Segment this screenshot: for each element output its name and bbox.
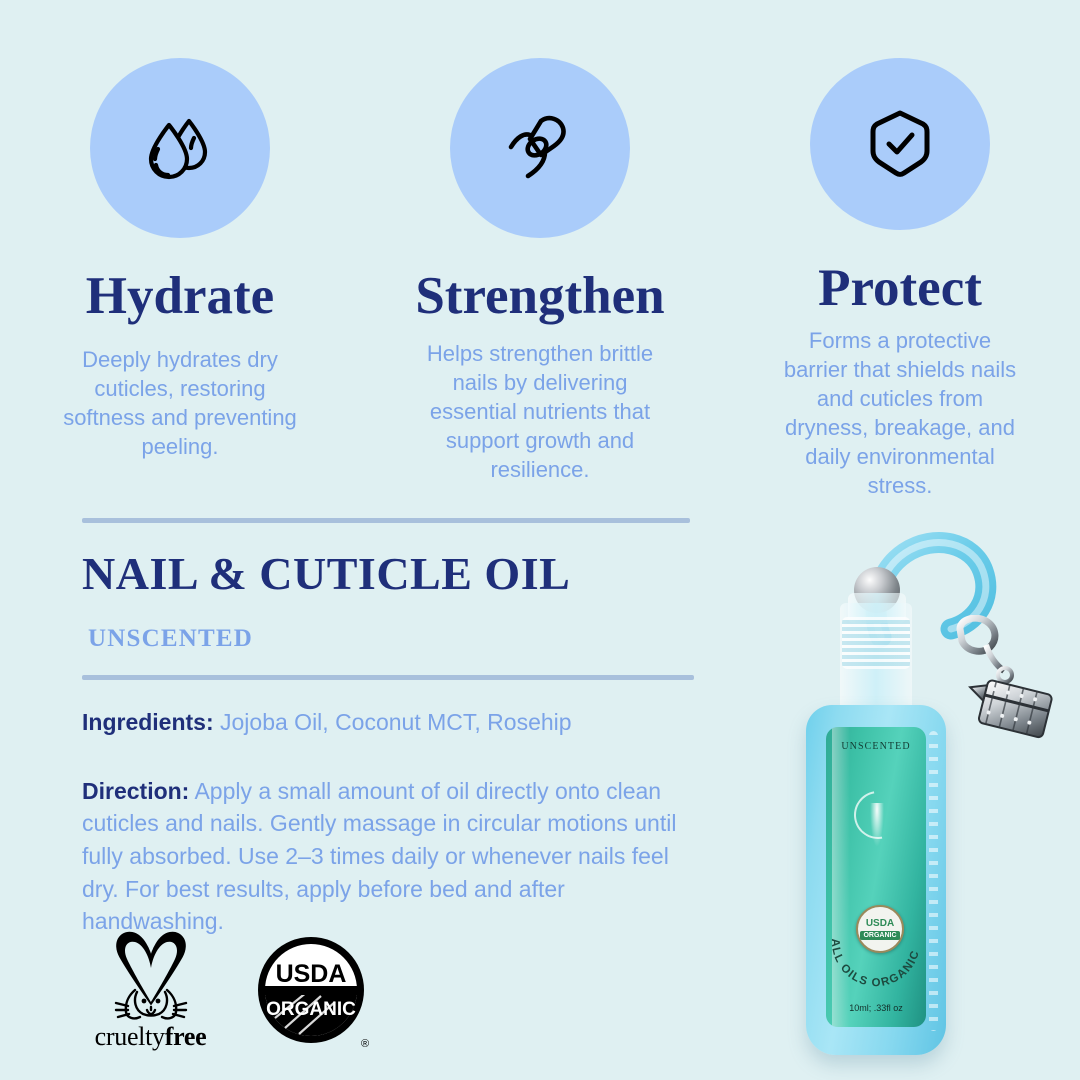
ingredients-value: Jojoba Oil, Coconut MCT, Rosehip <box>220 709 572 735</box>
fingernail-icon <box>497 105 583 191</box>
cruelty-free-bunny-icon <box>90 928 212 1020</box>
benefit-title: Protect <box>818 262 982 315</box>
divider-top <box>82 518 690 523</box>
benefit-description: Deeply hydrates dry cuticles, restoring … <box>55 345 305 461</box>
bottle-volume: 10ml; .33fl oz <box>826 1003 926 1013</box>
benefit-title: Strengthen <box>415 270 664 323</box>
usda-seal-bottom-text: ORGANIC <box>266 999 356 1020</box>
silver-charm-pendant <box>956 615 1066 755</box>
usda-seal-top-text: USDA <box>276 960 347 988</box>
cruelty-free-badge: crueltyfree <box>88 928 213 1052</box>
bottle-seal-bottom: ORGANIC <box>860 931 899 940</box>
product-subtitle: UNSCENTED <box>88 625 694 653</box>
benefit-description: Forms a protective barrier that shields … <box>775 326 1025 500</box>
certification-badges: crueltyfree USDA ORGANIC ® <box>88 928 373 1052</box>
water-drops-icon <box>137 105 223 191</box>
product-title: NAIL & CUTICLE OIL <box>82 551 694 597</box>
bottle-seal-top: USDA <box>866 919 894 929</box>
ingredients-label: Ingredients: <box>82 709 214 735</box>
benefit-protect: Protect Forms a protective barrier that … <box>720 0 1080 500</box>
divider-bottom <box>82 675 694 680</box>
registered-mark: ® <box>361 1038 369 1050</box>
product-photo: UNSCENTED ALL OILS ORGANIC USDA ORGANI <box>760 515 1080 1080</box>
bottle-label-window: UNSCENTED ALL OILS ORGANIC USDA ORGANI <box>826 727 926 1027</box>
usda-organic-seal: USDA ORGANIC ® <box>255 934 373 1052</box>
bottle-label-scent: UNSCENTED <box>826 741 926 752</box>
benefit-icon-circle <box>90 58 270 238</box>
benefit-hydrate: Hydrate Deeply hydrates dry cuticles, re… <box>0 0 360 500</box>
cruelty-free-label: crueltyfree <box>95 1022 207 1052</box>
cruelty-free-word-1: cruelty <box>95 1022 165 1051</box>
cruelty-free-word-2: free <box>165 1022 207 1051</box>
direction-label: Direction: <box>82 778 189 804</box>
benefit-icon-circle <box>810 58 990 230</box>
product-infographic: Hydrate Deeply hydrates dry cuticles, re… <box>0 0 1080 1080</box>
roller-bottle: UNSCENTED ALL OILS ORGANIC USDA ORGANI <box>788 545 963 1065</box>
bottle-usda-seal: USDA ORGANIC <box>856 905 904 953</box>
silicone-sleeve: UNSCENTED ALL OILS ORGANIC USDA ORGANI <box>806 705 946 1055</box>
shield-check-icon <box>857 101 943 187</box>
fairy-graphic <box>870 803 884 847</box>
ingredients-line: Ingredients: Jojoba Oil, Coconut MCT, Ro… <box>82 706 694 739</box>
bottle-neck-threads <box>842 617 910 669</box>
benefit-title: Hydrate <box>86 270 274 323</box>
direction-line: Direction: Apply a small amount of oil d… <box>82 775 694 938</box>
benefit-strengthen: Strengthen Helps strengthen brittle nail… <box>360 0 720 500</box>
benefit-description: Helps strengthen brittle nails by delive… <box>409 339 671 484</box>
benefits-row: Hydrate Deeply hydrates dry cuticles, re… <box>0 0 1080 500</box>
product-info-block: NAIL & CUTICLE OIL UNSCENTED Ingredients… <box>82 518 694 938</box>
benefit-icon-circle <box>450 58 630 238</box>
